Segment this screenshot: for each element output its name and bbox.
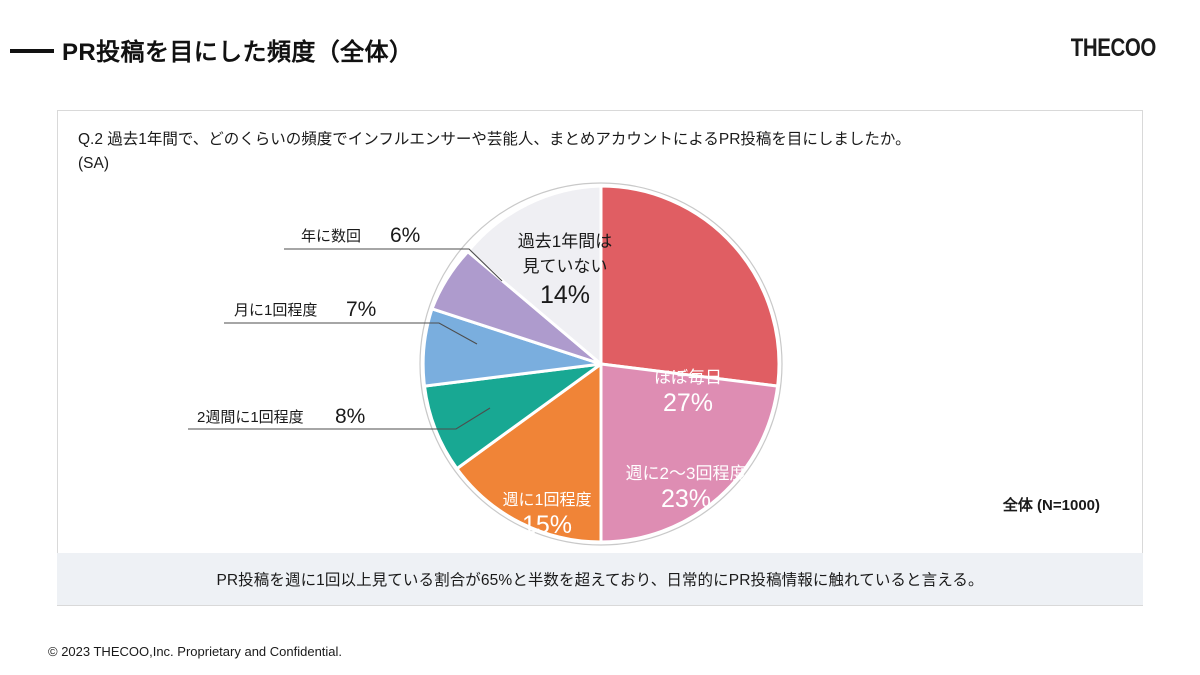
callout-label-2shukan-1kai-name: 2週間に1回程度 — [197, 409, 304, 426]
pie-slice-tsuki-1kai[interactable] — [423, 309, 601, 386]
page-title: PR投稿を目にした頻度（全体） — [62, 32, 413, 67]
question-text: Q.2 過去1年間で、どのくらいの頻度でインフルエンサーや芸能人、まとめアカウン… — [78, 128, 1134, 176]
callout-label-tsuki-1kai-name: 月に1回程度 — [234, 302, 317, 319]
callout-line-nen-suukai — [284, 249, 502, 281]
copyright-footer: © 2023 THECOO,Inc. Proprietary and Confi… — [48, 644, 342, 659]
pie-label-kako1nen-line2: 見ていない — [523, 257, 608, 276]
pie-label-hobo-mainichi-name: ほぼ毎日 — [654, 368, 722, 387]
pie-label-shu-1kai-pct: 15% — [522, 511, 572, 539]
question-line-1: Q.2 過去1年間で、どのくらいの頻度でインフルエンサーや芸能人、まとめアカウン… — [78, 131, 911, 148]
pie-label-shu-1kai-name: 週に1回程度 — [503, 491, 592, 509]
pie-label-kako1nen-pct: 14% — [540, 281, 590, 309]
pie-slice-nen-suukai[interactable] — [432, 252, 601, 364]
pie-label-kako1nen-line1: 過去1年間は — [518, 232, 612, 251]
callout-label-nen-suukai-name: 年に数回 — [301, 228, 361, 245]
pie-outer-ring — [420, 183, 782, 545]
title-accent-rule — [10, 49, 54, 53]
callout-label-nen-suukai-pct: 6% — [390, 224, 420, 247]
pie-slice-shu-1kai[interactable] — [457, 364, 601, 542]
question-line-2: (SA) — [78, 152, 1134, 176]
pie-chart: ほぼ毎日 27% 週に2〜3回程度 23% 週に1回程度 15% 過去1年間は … — [58, 111, 1144, 607]
pie-label-shu-2-3kai-name: 週に2〜3回程度 — [626, 464, 747, 483]
pie-label-hobo-mainichi-pct: 27% — [663, 389, 713, 417]
pie-slice-shu-2-3kai[interactable] — [601, 364, 778, 542]
callout-label-tsuki-1kai-pct: 7% — [346, 298, 376, 321]
thecoo-logo: THECOO — [1071, 34, 1156, 63]
chart-card: Q.2 過去1年間で、どのくらいの頻度でインフルエンサーや芸能人、まとめアカウン… — [57, 110, 1143, 606]
callout-line-tsuki-1kai — [224, 323, 477, 344]
summary-callout-bar: PR投稿を週に1回以上見ている割合が65%と半数を超えており、日常的にPR投稿情… — [57, 553, 1143, 605]
callout-line-2shukan-1kai — [188, 408, 490, 429]
page-header: PR投稿を目にした頻度（全体） THECOO — [0, 0, 1200, 95]
pie-slice-2shukan-1kai[interactable] — [425, 364, 602, 469]
sample-size-label: 全体 (N=1000) — [1003, 494, 1100, 515]
pie-slice-kako1nen-mitenai[interactable] — [468, 186, 601, 364]
pie-chart-svg: ほぼ毎日 27% 週に2〜3回程度 23% 週に1回程度 15% 過去1年間は … — [58, 111, 1144, 607]
pie-slice-hobo-mainichi[interactable] — [601, 186, 779, 386]
pie-label-shu-2-3kai-pct: 23% — [661, 485, 711, 513]
callout-label-2shukan-1kai-pct: 8% — [335, 405, 365, 428]
summary-text: PR投稿を週に1回以上見ている割合が65%と半数を超えており、日常的にPR投稿情… — [216, 568, 983, 590]
